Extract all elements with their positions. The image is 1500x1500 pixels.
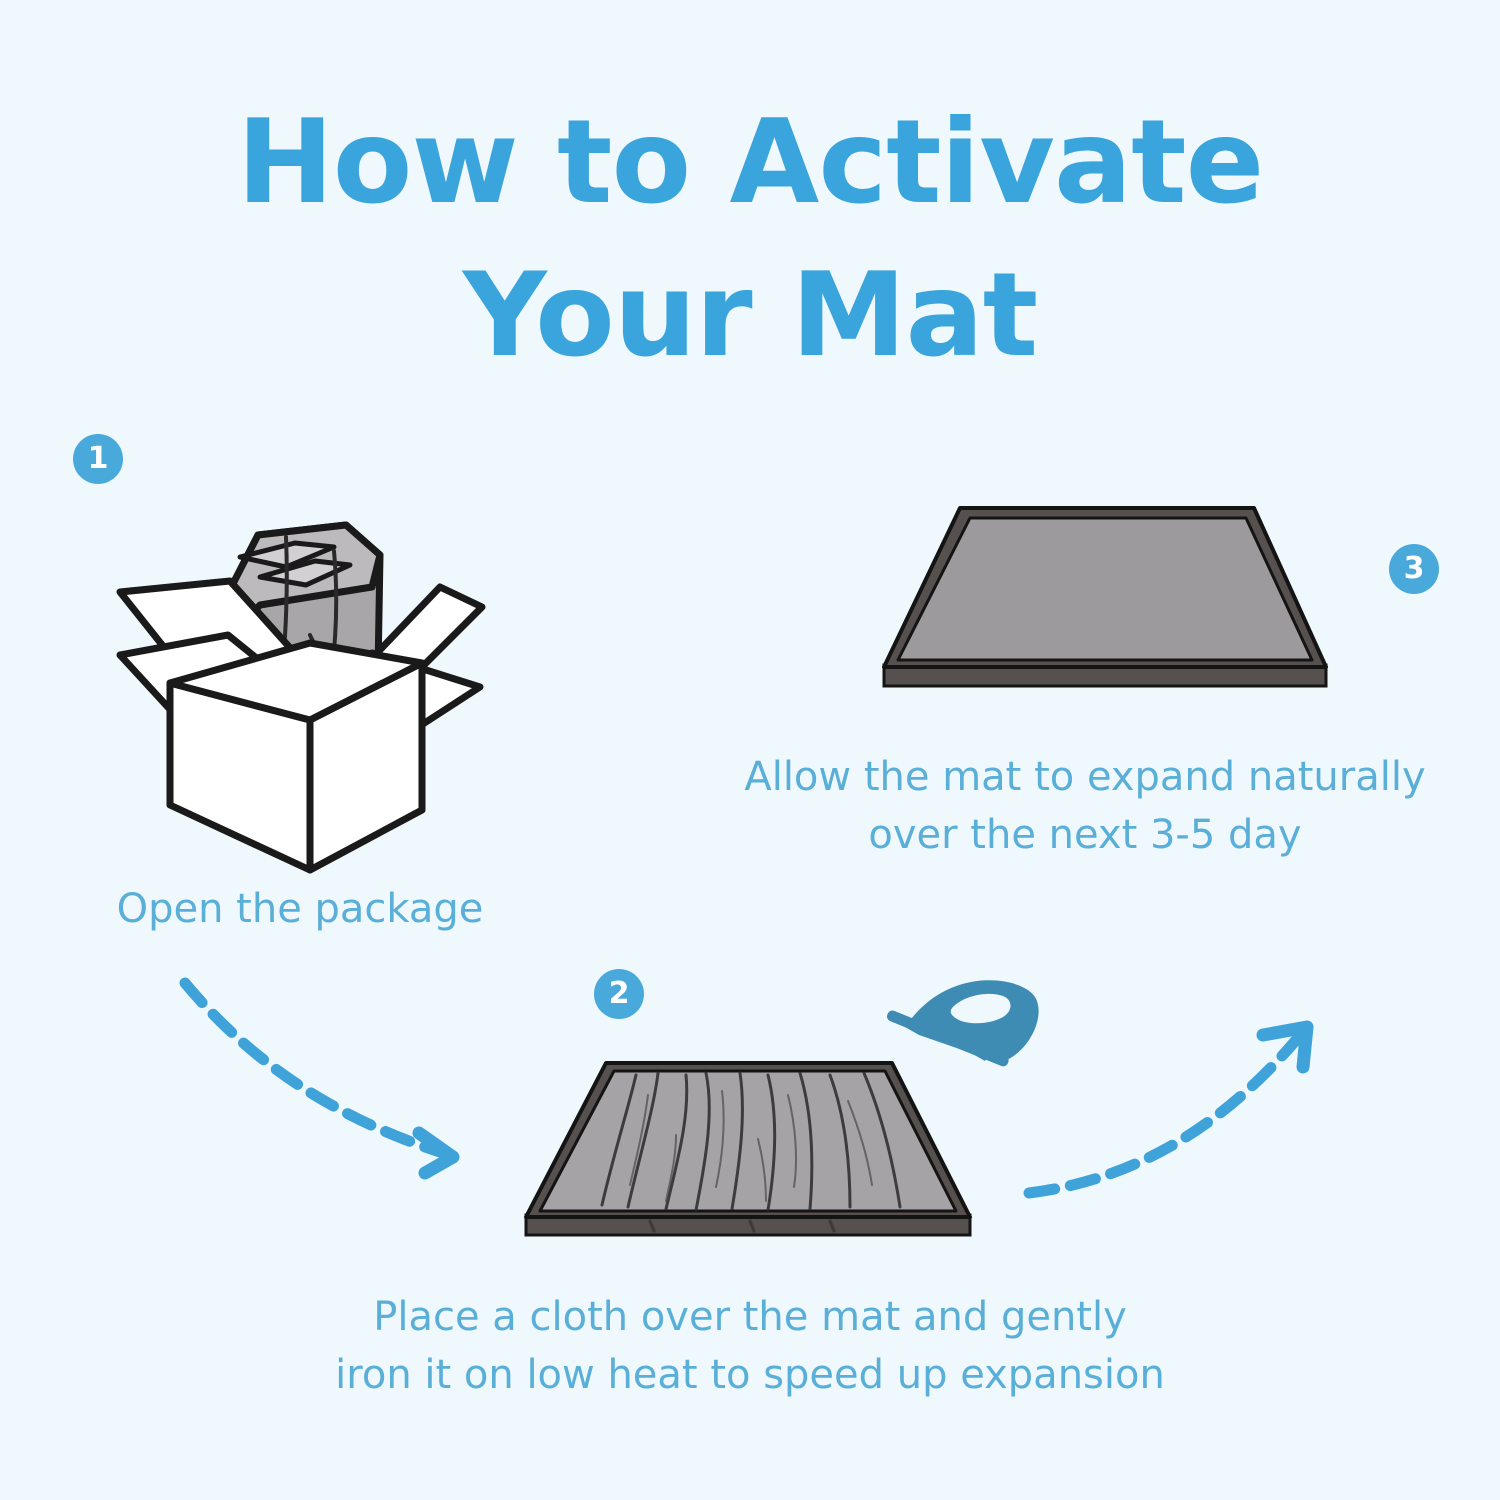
- step-caption-1: Open the package: [40, 880, 560, 938]
- step-badge-3: 3: [1389, 544, 1439, 594]
- step-badge-2: 2: [594, 969, 644, 1019]
- arrow-step1-to-step2-icon: [175, 965, 495, 1195]
- page-title: How to Activate Your Mat: [0, 86, 1500, 392]
- open-box-illustration: [110, 495, 490, 870]
- flat-mat-illustration: [860, 480, 1350, 710]
- arrow-step2-to-step3-icon: [1015, 1005, 1335, 1230]
- step-badge-1: 1: [73, 434, 123, 484]
- infographic-canvas: How to Activate Your Mat 1: [0, 0, 1500, 1500]
- step-caption-3: Allow the mat to expand naturally over t…: [690, 748, 1480, 864]
- step-caption-2: Place a cloth over the mat and gently ir…: [250, 1288, 1250, 1404]
- wrinkled-mat-illustration: [500, 1035, 1000, 1270]
